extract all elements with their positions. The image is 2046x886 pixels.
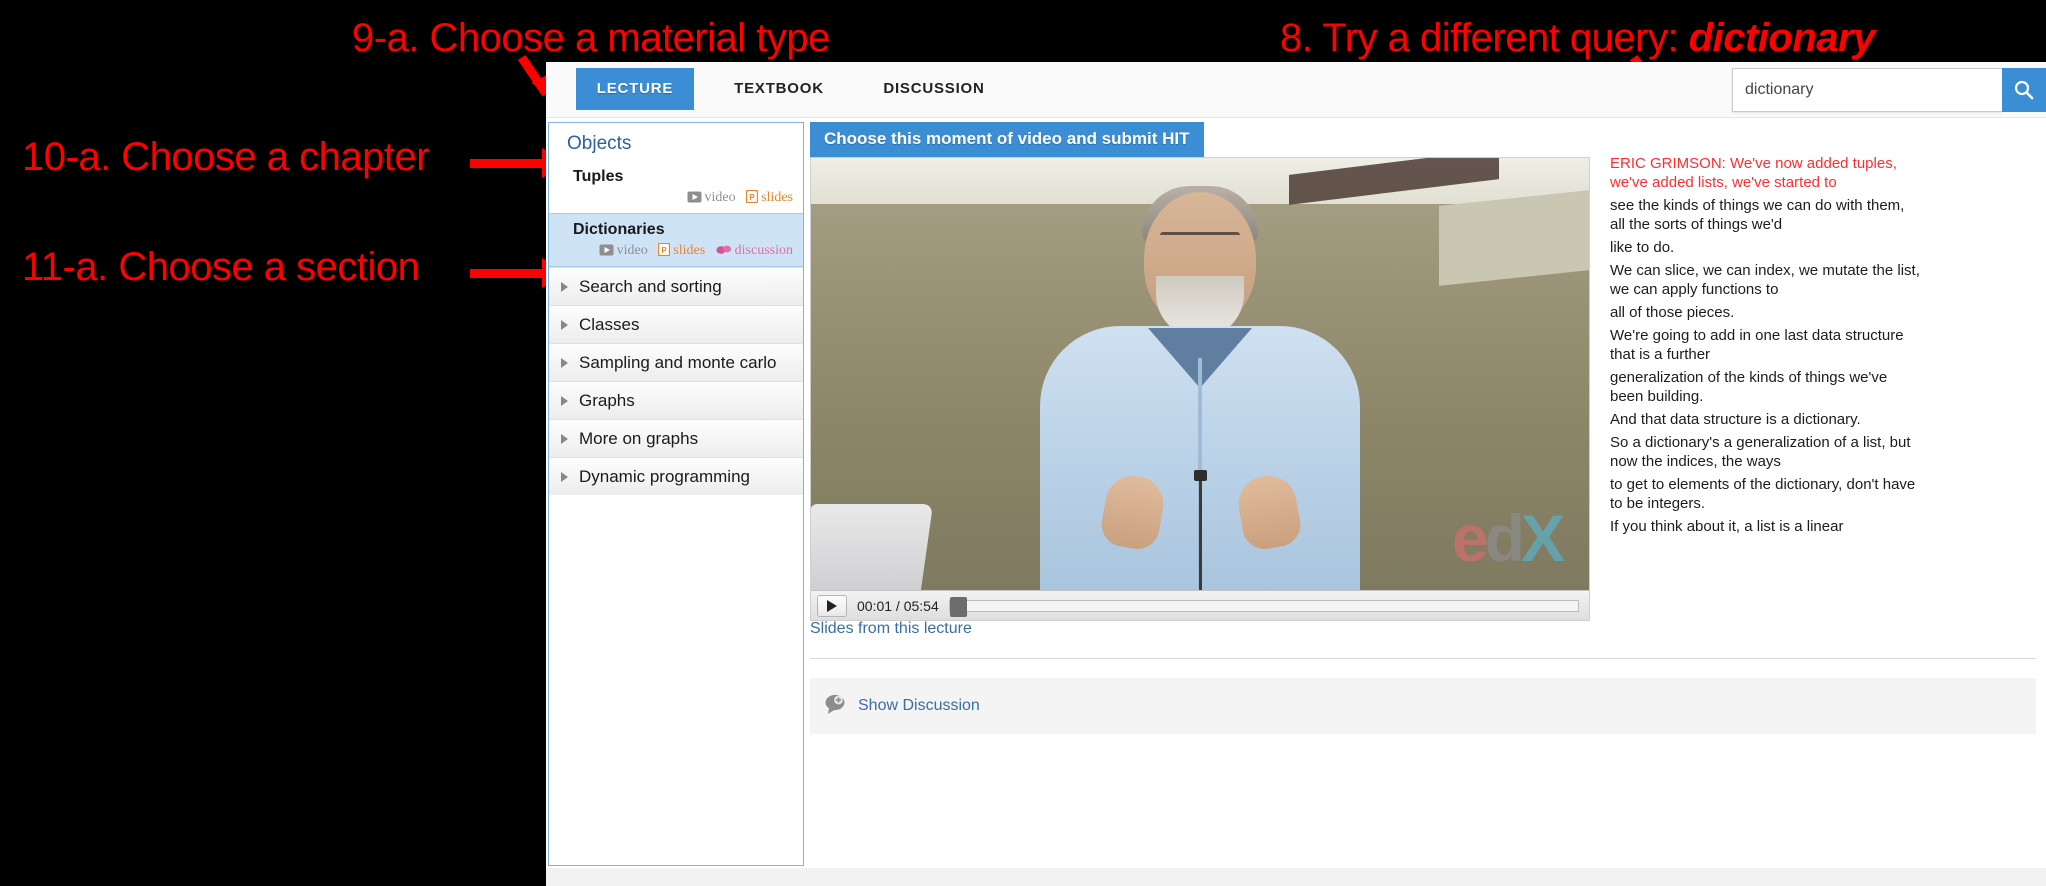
chapter-label: Classes — [579, 315, 639, 334]
annotation-11a: 11-a. Choose a section — [22, 245, 419, 290]
annotation-8: 8. Try a different query: dictionary — [1280, 16, 1875, 61]
show-discussion-label[interactable]: Show Discussion — [858, 697, 980, 715]
chevron-right-icon — [561, 358, 568, 368]
lecturer-mic-cord — [1199, 480, 1202, 590]
watermark-e: e — [1452, 501, 1485, 575]
laptop — [811, 504, 933, 590]
video-controls: 00:01 / 05:54 — [811, 590, 1589, 620]
chevron-right-icon — [561, 434, 568, 444]
badge-discussion-label: discussion — [735, 243, 793, 258]
edx-watermark-icon: edX — [1452, 500, 1561, 576]
search-input[interactable] — [1732, 68, 2002, 112]
slides-from-lecture-link[interactable]: Slides from this lecture — [810, 620, 972, 638]
transcript-line[interactable]: see the kinds of things we can do with t… — [1610, 196, 1922, 234]
search-button[interactable] — [2002, 68, 2046, 112]
badge-video-label: video — [617, 243, 648, 258]
video-wall-panel — [1439, 190, 1589, 286]
play-icon — [827, 600, 837, 612]
application-window: LECTURE TEXTBOOK DISCUSSION Objec — [546, 62, 2046, 886]
section-dictionaries[interactable]: Dictionaries video P slides — [549, 213, 803, 267]
chapter-row-classes[interactable]: Classes — [549, 305, 803, 343]
tab-lecture[interactable]: LECTURE — [576, 68, 694, 110]
transcript-line[interactable]: to get to elements of the dictionary, do… — [1610, 475, 1922, 513]
video-frame[interactable]: edX — [811, 158, 1589, 590]
chapter-open-objects[interactable]: Objects — [549, 123, 803, 161]
chapter-row-graphs[interactable]: Graphs — [549, 381, 803, 419]
time-display: 00:01 / 05:54 — [857, 598, 939, 614]
video-player[interactable]: edX 00:01 / 05:54 — [810, 157, 1590, 621]
transcript-line[interactable]: all of those pieces. — [1610, 303, 1922, 322]
badge-slides[interactable]: P slides — [658, 243, 705, 261]
chapter-row-more-on-graphs[interactable]: More on graphs — [549, 419, 803, 457]
tab-textbook[interactable]: TEXTBOOK — [714, 68, 844, 110]
chapter-row-sampling-and-monte-carlo-methods[interactable]: Sampling and monte carlo methods — [549, 343, 803, 381]
badge-video-label: video — [705, 190, 736, 205]
transcript-line[interactable]: We can slice, we can index, we mutate th… — [1610, 261, 1922, 299]
tab-discussion[interactable]: DISCUSSION — [864, 68, 1004, 110]
chapter-label: More on graphs — [579, 429, 698, 448]
annotation-9a: 9-a. Choose a material type — [352, 16, 830, 61]
show-discussion-bar[interactable]: Show Discussion — [810, 678, 2036, 734]
annotation-8-emphasis: dictionary — [1689, 16, 1875, 60]
slides-icon: P — [658, 243, 670, 261]
transcript-line[interactable]: So a dictionary's a generalization of a … — [1610, 433, 1922, 471]
screenshot-root: 9-a. Choose a material type 8. Try a dif… — [0, 0, 2046, 886]
transcript-line[interactable]: We're going to add in one last data stru… — [1610, 326, 1922, 364]
badge-discussion[interactable]: discussion — [716, 243, 793, 261]
slides-icon: P — [746, 190, 758, 208]
transcript-line[interactable]: If you think about it, a list is a linea… — [1610, 517, 1922, 536]
chevron-right-icon — [561, 320, 568, 330]
transcript-line[interactable]: generalization of the kinds of things we… — [1610, 368, 1922, 406]
badge-slides-label: slides — [761, 190, 793, 205]
chapter-label: Graphs — [579, 391, 635, 410]
transcript-line[interactable]: And that data structure is a dictionary. — [1610, 410, 1922, 429]
play-button[interactable] — [817, 595, 847, 617]
badge-video[interactable]: video — [687, 190, 736, 208]
transcript-line[interactable]: ERIC GRIMSON: We've now added tuples, we… — [1610, 154, 1922, 192]
section-badges: video P slides discussion — [573, 243, 793, 261]
badge-slides[interactable]: P slides — [746, 190, 793, 208]
material-type-tabbar: LECTURE TEXTBOOK DISCUSSION — [546, 62, 2046, 118]
annotation-10a: 10-a. Choose a chapter — [22, 135, 429, 180]
lecturer-glasses — [1160, 232, 1240, 248]
video-transcript[interactable]: ERIC GRIMSON: We've now added tuples, we… — [1610, 154, 1922, 540]
chevron-right-icon — [561, 472, 568, 482]
section-tuples[interactable]: Tuples video P slides — [549, 161, 803, 213]
chevron-right-icon — [561, 396, 568, 406]
chapter-row-dynamic-programming[interactable]: Dynamic programming — [549, 457, 803, 495]
search-icon — [2013, 79, 2035, 101]
discussion-icon — [716, 244, 732, 261]
content-body: Objects Tuples video P slides — [546, 118, 2046, 886]
svg-text:P: P — [662, 246, 668, 255]
svg-text:P: P — [749, 193, 755, 202]
chapter-label: Dynamic programming — [579, 467, 750, 486]
annotation-8-prefix: 8. Try a different query: — [1280, 16, 1689, 60]
divider — [810, 658, 2036, 659]
badge-video[interactable]: video — [599, 243, 648, 261]
lecture-main-panel: Choose this moment of video and submit H… — [810, 122, 2044, 866]
chapter-row-search-and-sorting[interactable]: Search and sorting — [549, 267, 803, 305]
choose-moment-button[interactable]: Choose this moment of video and submit H… — [810, 122, 1204, 157]
chevron-right-icon — [561, 282, 568, 292]
discussion-bubble-icon — [824, 693, 848, 720]
video-scrubber[interactable] — [949, 600, 1579, 612]
course-outline-sidebar: Objects Tuples video P slides — [548, 122, 804, 866]
lecturer-mic — [1194, 470, 1207, 481]
video-icon — [599, 244, 614, 261]
footer-strip — [546, 868, 2046, 886]
section-title: Tuples — [573, 168, 793, 186]
search-area — [1732, 68, 2046, 112]
transcript-line[interactable]: like to do. — [1610, 238, 1922, 257]
chapter-label: Search and sorting — [579, 277, 722, 296]
scrubber-thumb[interactable] — [950, 597, 967, 617]
section-title: Dictionaries — [573, 221, 793, 239]
section-badges: video P slides — [573, 190, 793, 208]
watermark-x: X — [1521, 501, 1561, 575]
badge-slides-label: slides — [673, 243, 705, 258]
video-icon — [687, 191, 702, 208]
watermark-d: d — [1485, 501, 1521, 575]
